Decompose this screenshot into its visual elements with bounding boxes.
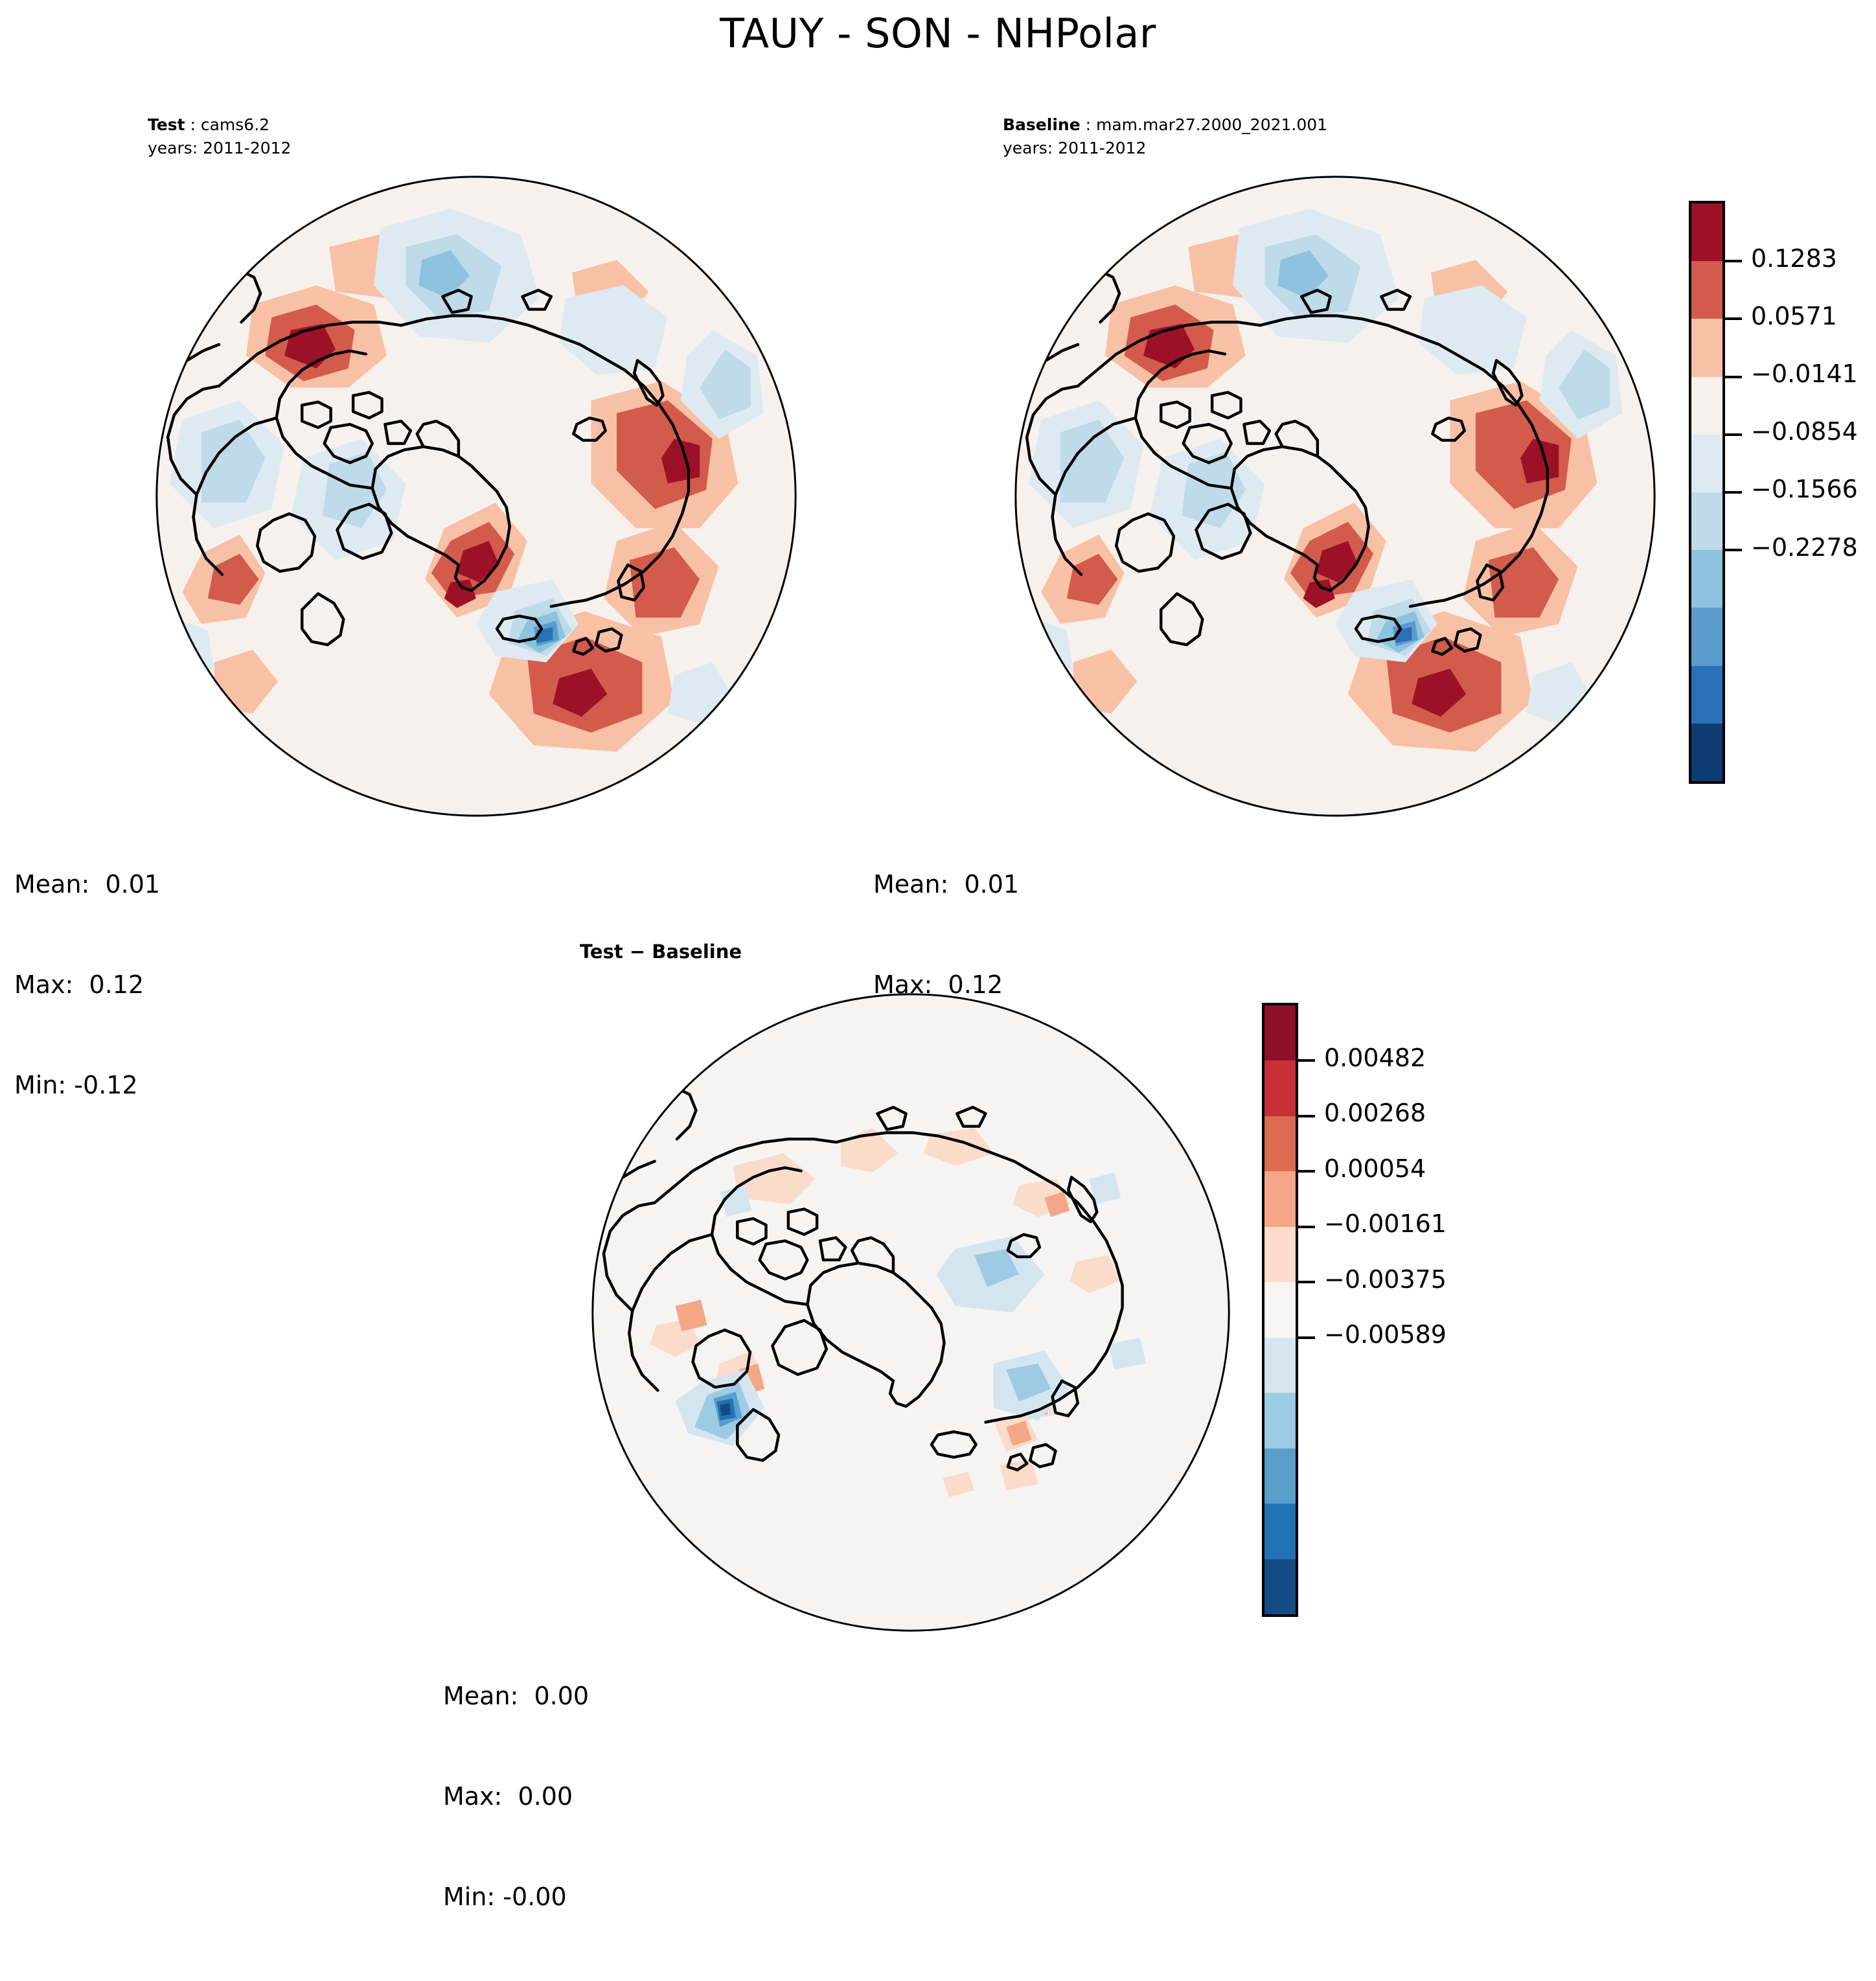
panel-caption-baseline-line1: Baseline : mam.mar27.2000_2021.001: [1003, 113, 1327, 137]
colorbar-band: [1691, 666, 1722, 724]
panel-caption-baseline: Baseline : mam.mar27.2000_2021.001 years…: [1003, 113, 1327, 159]
colorbar-tick-label: 0.00482: [1324, 1046, 1426, 1070]
colorbar-tick-label: 0.0571: [1751, 304, 1837, 328]
colorbar-tick: [1298, 1115, 1315, 1117]
panel-caption-baseline-sep: :: [1081, 115, 1096, 134]
colorbar-tick: [1725, 317, 1742, 320]
colorbar-band: [1264, 1227, 1296, 1282]
colorbar-tick: [1725, 260, 1742, 262]
colorbar-tick: [1725, 433, 1742, 436]
colorbar-band: [1264, 1060, 1296, 1116]
colorbar-band: [1264, 1449, 1296, 1504]
stats-difference: Mean: 0.00 Max: 0.00 Min: -0.00: [443, 1613, 589, 1981]
panel-caption-test: Test : cams6.2 years: 2011-2012: [148, 113, 291, 159]
colorbar-band: [1691, 724, 1722, 781]
colorbar-tick: [1298, 1281, 1315, 1283]
colorbar-main-body: [1689, 201, 1725, 784]
panel-caption-baseline-case: mam.mar27.2000_2021.001: [1096, 115, 1327, 134]
stats-test-min: Min: -0.12: [14, 1069, 160, 1103]
colorbar-band: [1264, 1116, 1296, 1171]
colorbar-band: [1691, 261, 1722, 319]
stats-difference-min: Min: -0.00: [443, 1881, 589, 1914]
stats-difference-max: Max: 0.00: [443, 1780, 589, 1814]
colorbar-tick-label: 0.00054: [1324, 1156, 1426, 1181]
colorbar-tick: [1725, 376, 1742, 378]
map-svg-difference: [586, 988, 1235, 1637]
colorbar-tick-label: −0.2278: [1751, 535, 1858, 560]
colorbar-tick-label: −0.00589: [1324, 1322, 1447, 1347]
colorbar-band: [1264, 1559, 1296, 1614]
colorbar-tick-label: −0.00375: [1324, 1267, 1447, 1292]
map-panel-difference: [586, 988, 1235, 1637]
panel-caption-difference: Test − Baseline: [580, 941, 742, 963]
colorbar-difference: 0.004820.002680.00054−0.00161−0.00375−0.…: [1262, 1003, 1298, 1617]
panel-caption-baseline-label: Baseline: [1003, 115, 1081, 134]
colorbar-tick: [1298, 1336, 1315, 1339]
colorbar-tick-label: 0.00268: [1324, 1101, 1426, 1125]
colorbar-main: 0.12830.0571−0.0141−0.0854−0.1566−0.2278: [1689, 201, 1725, 784]
map-svg-baseline: [1009, 170, 1661, 822]
colorbar-tick-label: −0.0141: [1751, 361, 1858, 386]
colorbar-band: [1691, 492, 1722, 550]
stats-baseline-mean: Mean: 0.01: [873, 868, 1019, 902]
colorbar-band: [1691, 319, 1722, 376]
colorbar-band: [1691, 608, 1722, 665]
colorbar-band: [1264, 1393, 1296, 1448]
colorbar-band: [1691, 550, 1722, 608]
colorbar-band: [1691, 435, 1722, 492]
stats-test: Mean: 0.01 Max: 0.12 Min: -0.12: [14, 801, 160, 1169]
colorbar-band: [1264, 1005, 1296, 1060]
colorbar-tick: [1725, 549, 1742, 551]
colorbar-tick-label: −0.1566: [1751, 477, 1858, 501]
map-panel-baseline: [1009, 170, 1661, 822]
colorbar-band: [1264, 1504, 1296, 1559]
map-data-area-test: [157, 177, 795, 816]
stats-test-max: Max: 0.12: [14, 968, 160, 1002]
colorbar-band: [1264, 1338, 1296, 1393]
map-data-area-difference: [593, 994, 1229, 1631]
page-title: TAUY - SON - NHPolar: [0, 12, 1876, 56]
map-panel-test: [150, 170, 802, 822]
colorbar-band: [1691, 377, 1722, 435]
figure-root: TAUY - SON - NHPolar Test : cams6.2 year…: [0, 0, 1876, 1728]
stats-difference-mean: Mean: 0.00: [443, 1680, 589, 1713]
colorbar-band: [1264, 1282, 1296, 1337]
colorbar-tick: [1298, 1059, 1315, 1062]
colorbar-tick-label: 0.1283: [1751, 246, 1837, 271]
panel-caption-test-label: Test: [148, 115, 185, 134]
colorbar-band: [1264, 1171, 1296, 1226]
map-svg-test: [150, 170, 802, 822]
colorbar-tick-label: −0.00161: [1324, 1211, 1447, 1236]
colorbar-tick: [1298, 1226, 1315, 1228]
colorbar-tick-label: −0.0854: [1751, 419, 1858, 444]
colorbar-difference-body: [1262, 1003, 1298, 1617]
panel-caption-test-case: cams6.2: [201, 115, 269, 134]
panel-caption-test-line1: Test : cams6.2: [148, 113, 291, 137]
map-data-area-baseline: [1016, 177, 1654, 816]
colorbar-tick: [1298, 1170, 1315, 1173]
panel-caption-test-years: years: 2011-2012: [148, 137, 291, 160]
colorbar-band: [1691, 203, 1722, 261]
panel-caption-test-sep: :: [185, 115, 201, 134]
stats-test-mean: Mean: 0.01: [14, 868, 160, 902]
panel-caption-baseline-years: years: 2011-2012: [1003, 137, 1327, 160]
colorbar-tick: [1725, 491, 1742, 494]
